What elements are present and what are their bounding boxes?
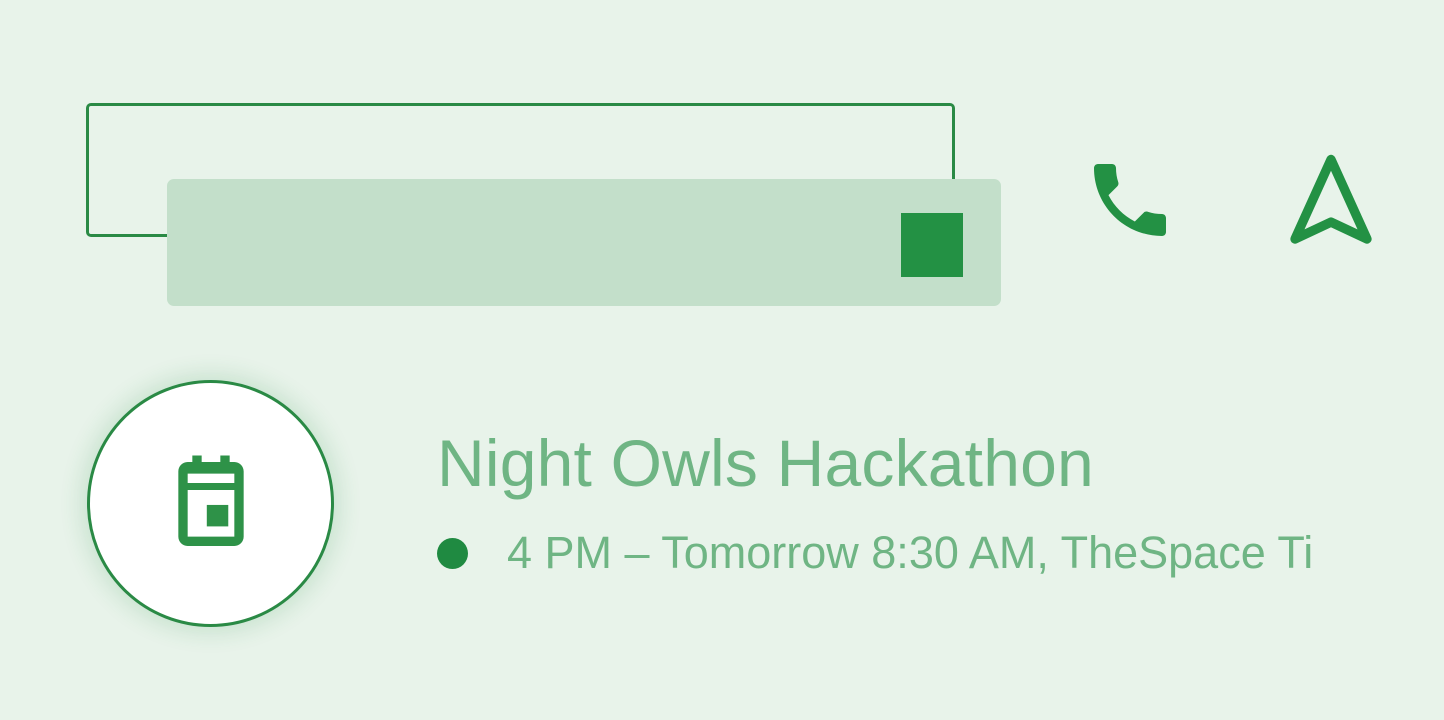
page-title: Night Owls Hackathon xyxy=(437,424,1094,502)
event-meta-row: 4 PM – Tomorrow 8:30 AM, TheSpace Ti xyxy=(437,524,1444,582)
shaded-rectangle xyxy=(167,179,1001,306)
calendar-event-icon xyxy=(155,448,267,560)
phone-icon[interactable] xyxy=(1082,152,1178,248)
navigation-arrow-icon[interactable] xyxy=(1286,150,1376,250)
status-dot xyxy=(437,538,468,569)
event-card-screen: Night Owls Hackathon 4 PM – Tomorrow 8:3… xyxy=(0,0,1444,720)
avatar[interactable] xyxy=(87,380,334,627)
solid-square xyxy=(901,213,963,277)
event-subtitle: 4 PM – Tomorrow 8:30 AM, TheSpace Ti xyxy=(507,524,1313,582)
